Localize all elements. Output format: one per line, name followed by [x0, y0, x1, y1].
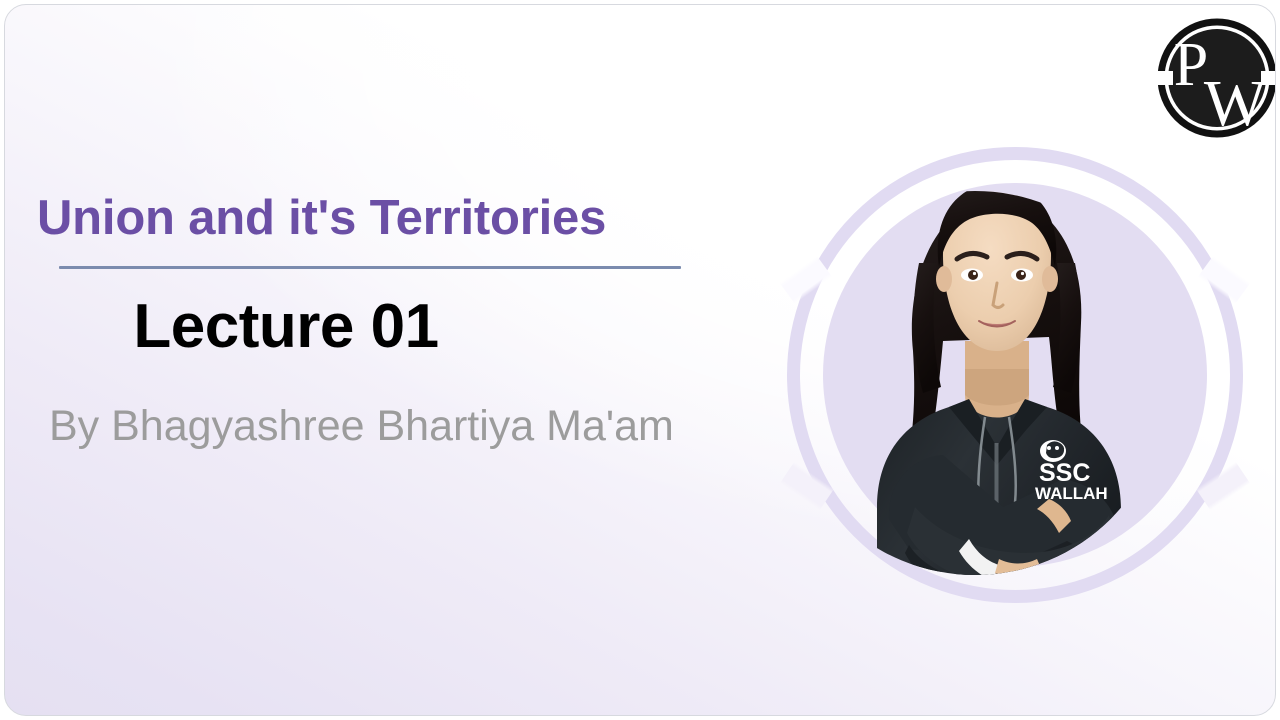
course-title: Union and it's Territories [5, 191, 795, 246]
title-divider [59, 266, 681, 269]
slide-canvas: SSC WALLAH [0, 0, 1280, 720]
lecture-number: Lecture 01 [5, 293, 795, 361]
presenter-name: By Bhagyashree Bhartiya Ma'am [5, 403, 795, 450]
pw-logo-icon: P W [1153, 13, 1276, 143]
text-column: Union and it's Territories Lecture 01 By… [5, 191, 795, 450]
logo-letter-w: W [1204, 67, 1267, 140]
jacket-brand-line2: WALLAH [1035, 484, 1108, 503]
instructor-photo: SSC WALLAH [853, 155, 1193, 625]
jacket-brand-line1: SSC [1039, 459, 1090, 487]
slide-surface: SSC WALLAH [4, 4, 1276, 716]
